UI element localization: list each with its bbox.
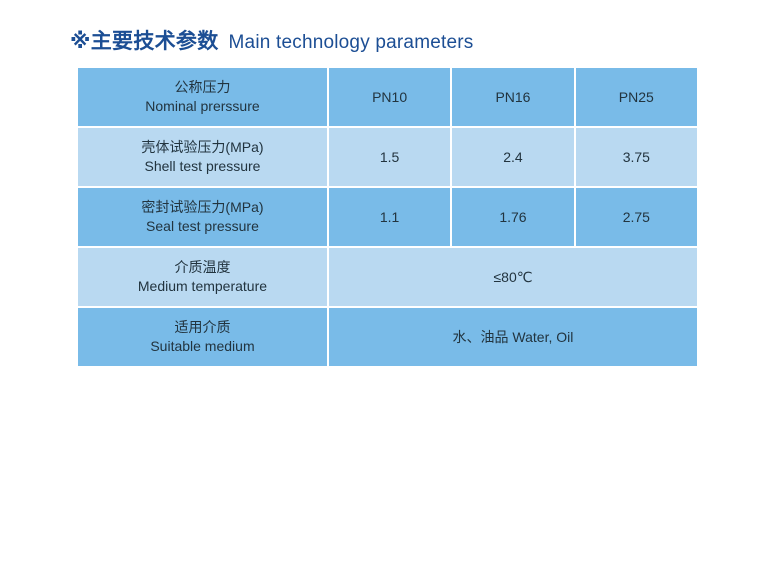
row-value-text: PN16	[495, 89, 530, 105]
row-value-cell: 2.75	[576, 188, 697, 248]
row-label-cell: 适用介质 Suitable medium	[78, 308, 329, 366]
row-label-cn: 适用介质	[82, 318, 323, 337]
row-value-cell-merged: 水、油品 Water, Oil	[329, 308, 697, 366]
reference-mark-icon: ※	[70, 30, 91, 53]
row-value-text: 1.76	[499, 209, 526, 225]
row-label-cn: 介质温度	[82, 258, 323, 277]
row-value-cell: 1.5	[329, 128, 452, 188]
row-label-en: Suitable medium	[82, 337, 323, 356]
page-root: ※主要技术参数Main technology parameters 公称压力 N…	[0, 0, 778, 588]
row-value-cell: 2.4	[452, 128, 575, 188]
row-label-cn: 壳体试验压力(MPa)	[82, 138, 323, 157]
technical-parameters-table: 公称压力 Nominal prerssure PN10 PN16 PN25 壳体…	[78, 68, 697, 366]
row-label-cn: 公称压力	[82, 78, 323, 97]
page-title-cn: 主要技术参数	[91, 30, 219, 53]
row-value-text: 1.1	[380, 209, 399, 225]
page-title: ※主要技术参数Main technology parameters	[70, 28, 473, 57]
row-value-cell: 3.75	[576, 128, 697, 188]
row-label-cn: 密封试验压力(MPa)	[82, 198, 323, 217]
row-label-en: Shell test pressure	[82, 157, 323, 176]
table-row: 公称压力 Nominal prerssure PN10 PN16 PN25	[78, 68, 697, 128]
row-value-text: PN25	[619, 89, 654, 105]
row-value-text: PN10	[372, 89, 407, 105]
row-value-text: 2.4	[503, 149, 522, 165]
row-label-cell: 壳体试验压力(MPa) Shell test pressure	[78, 128, 329, 188]
row-label-en: Nominal prerssure	[82, 97, 323, 116]
row-value-text: 1.5	[380, 149, 399, 165]
row-value-cell: PN10	[329, 68, 452, 128]
row-label-cell: 公称压力 Nominal prerssure	[78, 68, 329, 128]
table-row: 壳体试验压力(MPa) Shell test pressure 1.5 2.4 …	[78, 128, 697, 188]
row-label-en: Seal test pressure	[82, 217, 323, 236]
row-value-cell: 1.76	[452, 188, 575, 248]
table-row: 适用介质 Suitable medium 水、油品 Water, Oil	[78, 308, 697, 366]
row-value-cell: PN16	[452, 68, 575, 128]
row-value-text: 3.75	[623, 149, 650, 165]
row-value-text: ≤80℃	[493, 269, 532, 285]
table-row: 介质温度 Medium temperature ≤80℃	[78, 248, 697, 308]
row-value-text: 水、油品 Water, Oil	[453, 329, 574, 345]
row-value-cell: PN25	[576, 68, 697, 128]
row-value-cell-merged: ≤80℃	[329, 248, 697, 308]
row-value-text: 2.75	[623, 209, 650, 225]
row-label-en: Medium temperature	[82, 277, 323, 296]
page-title-en: Main technology parameters	[229, 32, 474, 53]
table-row: 密封试验压力(MPa) Seal test pressure 1.1 1.76 …	[78, 188, 697, 248]
row-label-cell: 密封试验压力(MPa) Seal test pressure	[78, 188, 329, 248]
row-label-cell: 介质温度 Medium temperature	[78, 248, 329, 308]
row-value-cell: 1.1	[329, 188, 452, 248]
